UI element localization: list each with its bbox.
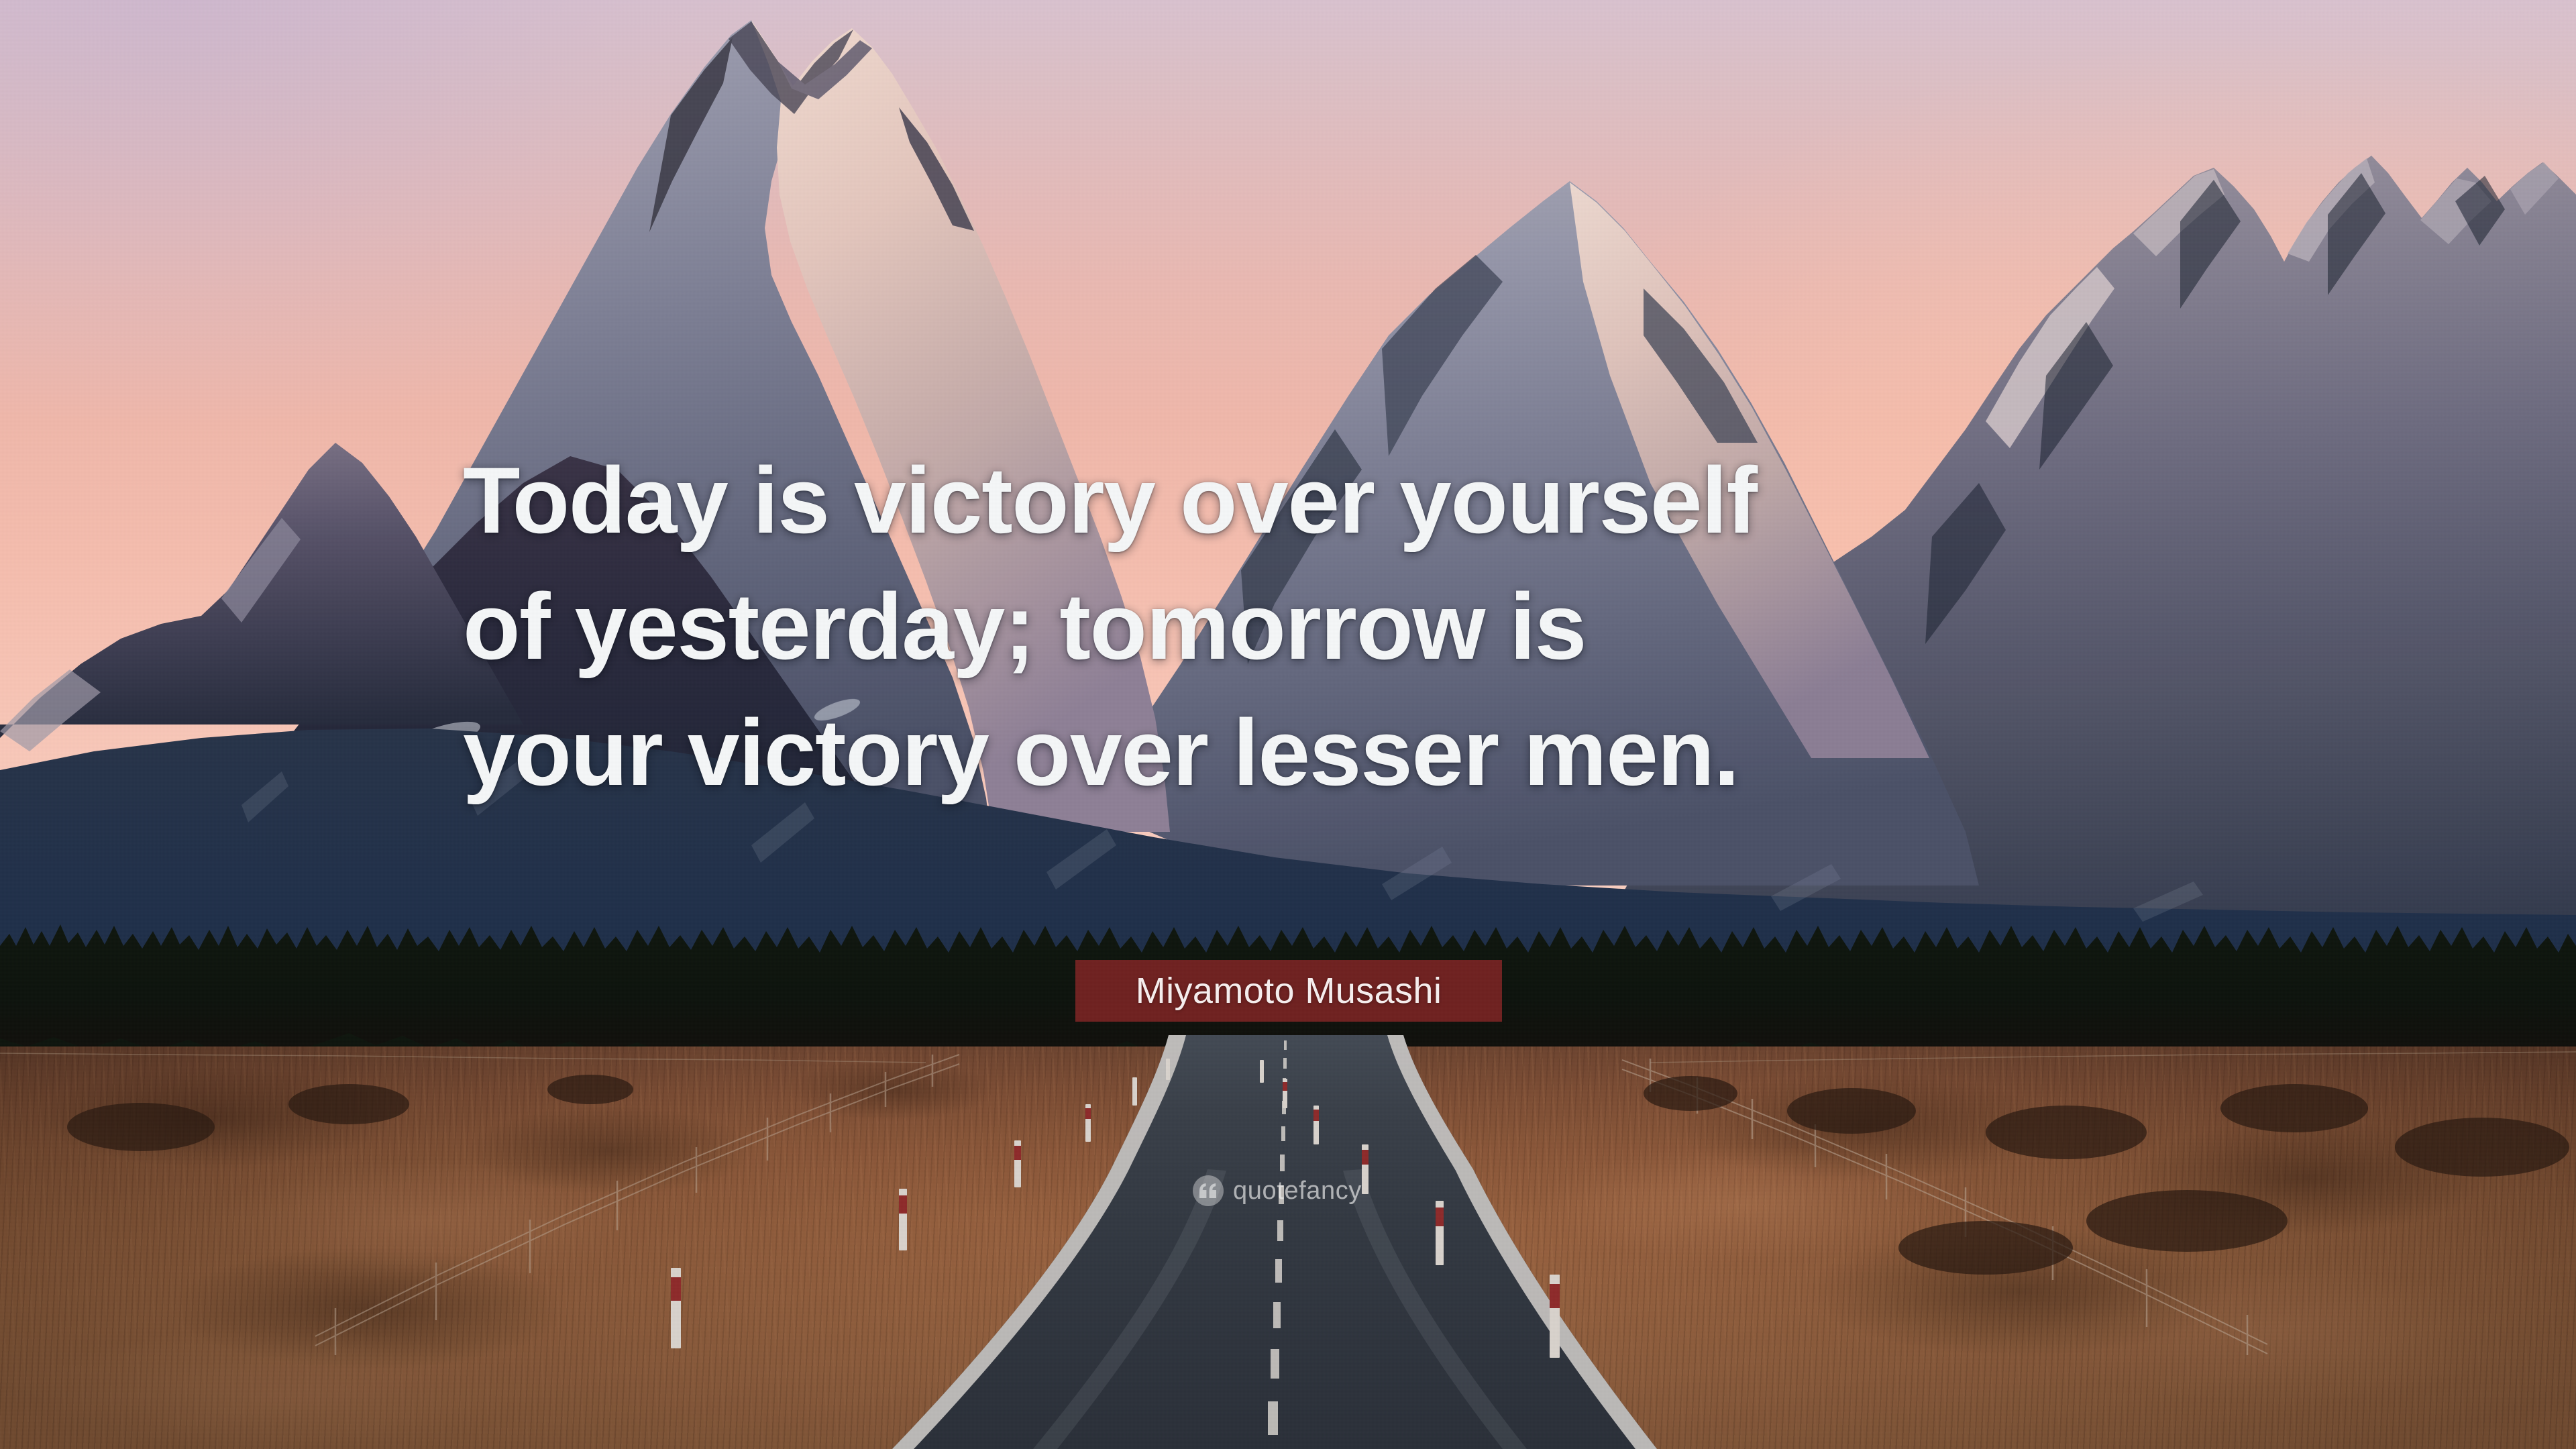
quote-line-3: your victory over lesser men.	[463, 690, 2140, 816]
author-name: Miyamoto Musashi	[1136, 970, 1442, 1012]
quotefancy-watermark[interactable]: quotefancy	[1193, 1175, 1362, 1206]
quote-text: Today is victory over yourself of yester…	[463, 437, 2140, 816]
watermark-brand: quotefancy	[1233, 1178, 1362, 1203]
quote-mark-icon	[1193, 1175, 1224, 1206]
quote-line-1: Today is victory over yourself	[463, 437, 2140, 563]
quote-line-2: of yesterday; tomorrow is	[463, 563, 2140, 690]
author-attribution-banner[interactable]: Miyamoto Musashi	[1075, 960, 1502, 1022]
quote-poster: Today is victory over yourself of yester…	[0, 0, 2576, 1449]
